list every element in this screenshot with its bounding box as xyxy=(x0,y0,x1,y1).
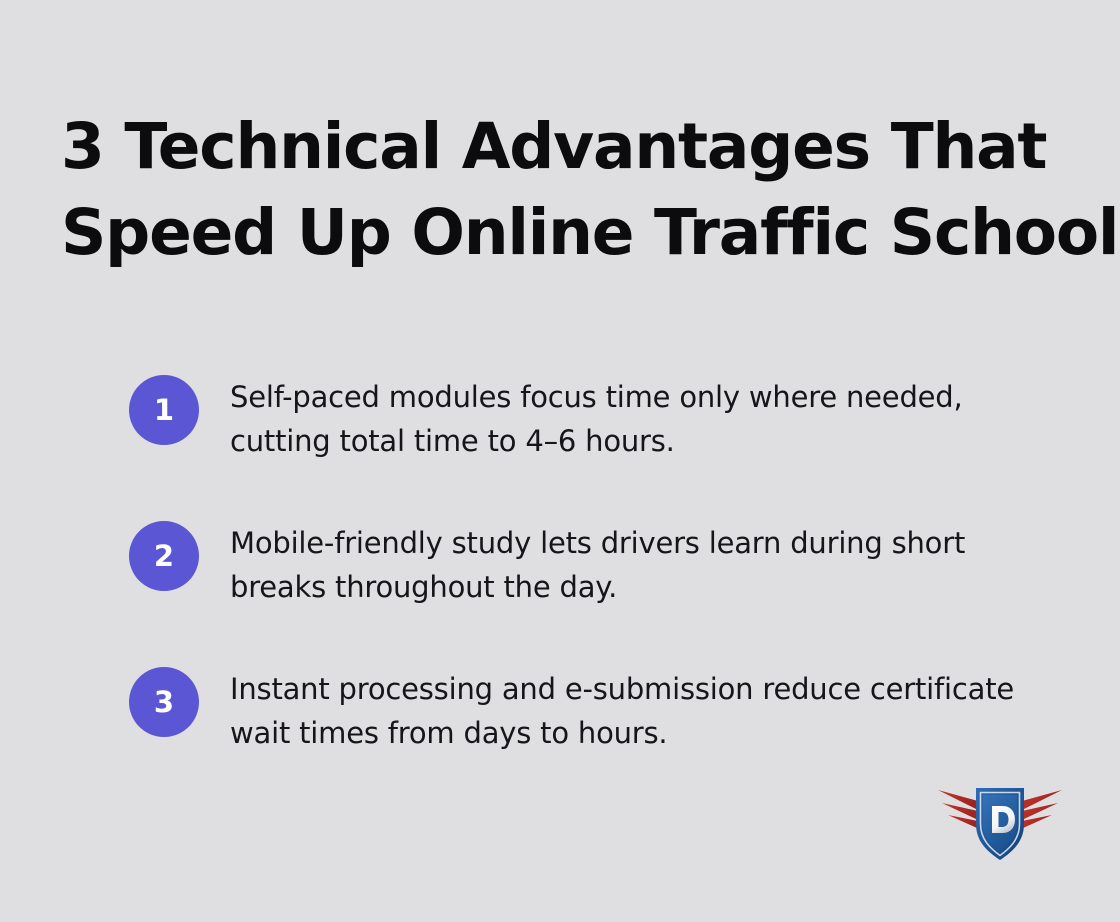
list-item: 2 Mobile-friendly study lets drivers lea… xyxy=(129,521,1059,609)
list-item-number-badge: 1 xyxy=(129,375,199,445)
list-item-text: Self-paced modules focus time only where… xyxy=(230,375,1050,463)
list-item-number-badge: 2 xyxy=(129,521,199,591)
brand-logo xyxy=(936,784,1064,864)
wing-left-icon xyxy=(938,790,978,828)
list-item-text: Mobile-friendly study lets drivers learn… xyxy=(230,521,1050,609)
advantages-list: 1 Self-paced modules focus time only whe… xyxy=(129,375,1059,755)
list-item: 3 Instant processing and e-submission re… xyxy=(129,667,1059,755)
list-item-text: Instant processing and e-submission redu… xyxy=(230,667,1050,755)
wing-right-icon xyxy=(1022,790,1062,828)
page-title-line-1: 3 Technical Advantages That xyxy=(61,104,1061,190)
infographic-slide: 3 Technical Advantages That Speed Up Onl… xyxy=(0,0,1120,922)
list-item: 1 Self-paced modules focus time only whe… xyxy=(129,375,1059,463)
page-title-line-2: Speed Up Online Traffic School xyxy=(61,190,1061,276)
list-item-number-badge: 3 xyxy=(129,667,199,737)
shield-wings-icon xyxy=(936,784,1064,864)
page-title: 3 Technical Advantages That Speed Up Onl… xyxy=(61,104,1061,276)
